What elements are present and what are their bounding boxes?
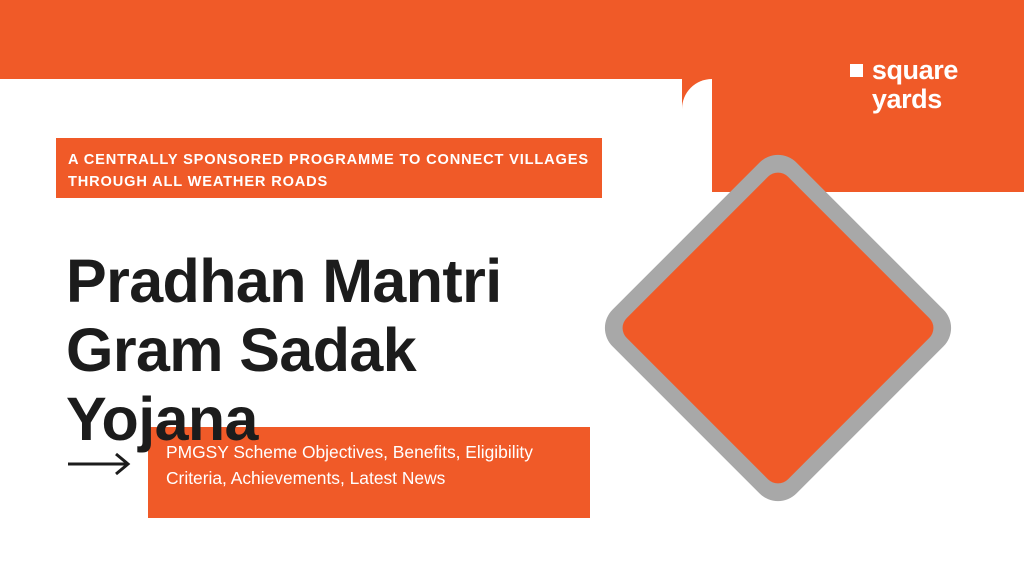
header-notch-rounded-corner (682, 79, 712, 109)
page-title-line-1: Pradhan Mantri (66, 247, 626, 316)
eyebrow-text: A CENTRALLY SPONSORED PROGRAMME TO CONNE… (56, 138, 602, 198)
square-bullet-icon (850, 64, 863, 77)
road-sign-diamond-icon (588, 138, 968, 518)
page-title: Pradhan Mantri Gram Sadak Yojana (66, 247, 626, 454)
road-sign-face (617, 167, 939, 489)
brand-logo-line1: square (872, 56, 958, 85)
right-arrow-icon (66, 452, 134, 476)
brand-logo-top-row: square (850, 56, 958, 85)
banner-root: square yards A CENTRALLY SPONSORED PROGR… (0, 0, 1024, 576)
page-title-line-3: Yojana (66, 385, 626, 454)
brand-logo-line2: yards (850, 85, 958, 114)
brand-logo[interactable]: square yards (850, 56, 958, 113)
page-title-line-2: Gram Sadak (66, 316, 626, 385)
